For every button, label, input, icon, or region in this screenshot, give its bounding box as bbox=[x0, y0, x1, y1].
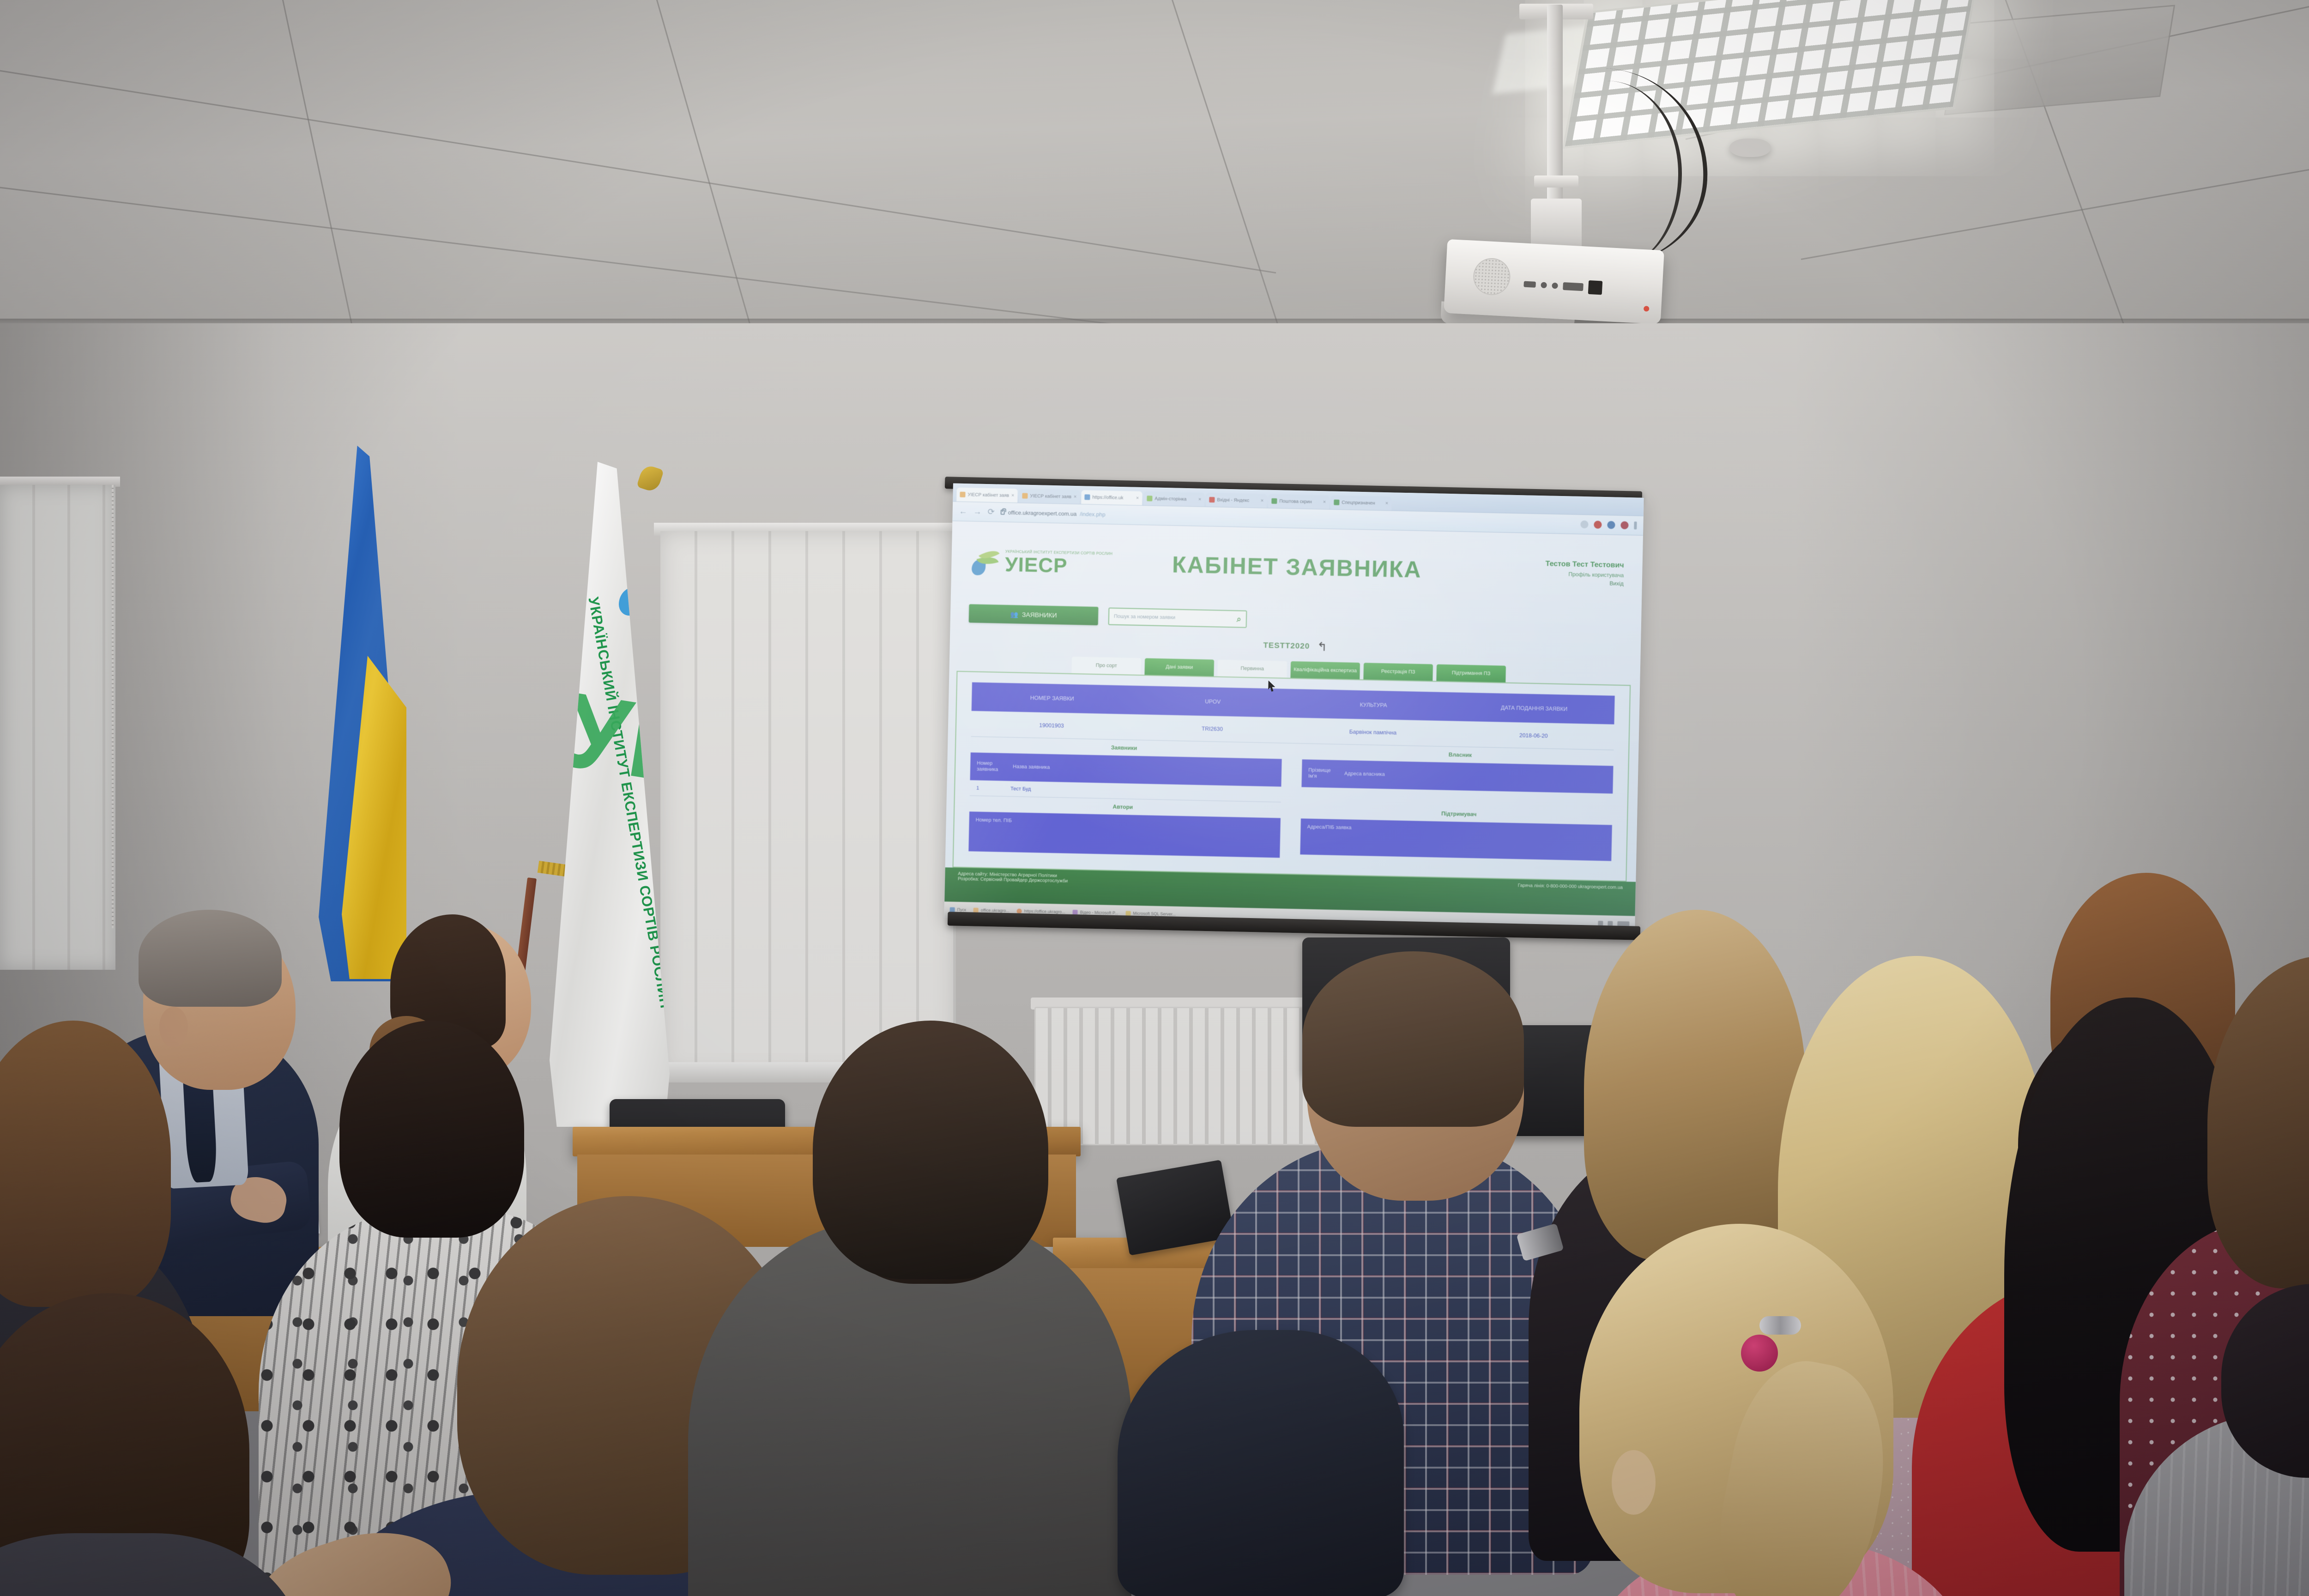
girl-pink-ear bbox=[1612, 1450, 1656, 1515]
ceiling-projector bbox=[1444, 239, 1664, 324]
owner-col-address: Адреса власника bbox=[1344, 771, 1385, 778]
projector-power-led bbox=[1644, 306, 1650, 312]
menu-icon[interactable] bbox=[1634, 521, 1637, 529]
tab-favicon-icon bbox=[1022, 493, 1028, 499]
tab-favicon-icon bbox=[1084, 494, 1090, 500]
page-title: КАБІНЕТ ЗАЯВНИКА bbox=[951, 546, 1643, 587]
tab-pro-sort[interactable]: Про сорт bbox=[1071, 657, 1141, 675]
cell-date: 2018-06-20 bbox=[1453, 731, 1614, 740]
footer-hotline: Гаряча лінія: 0-800-000-000 ukragroexper… bbox=[1517, 883, 1623, 912]
supporter-column-headers: Адреса/ПІБ заявка bbox=[1300, 818, 1612, 861]
back-arrow-icon[interactable]: ↰ bbox=[1317, 641, 1327, 653]
projector-mount-arm bbox=[1531, 199, 1582, 249]
browser-tab[interactable]: Адмін-сторінка × bbox=[1143, 491, 1205, 507]
reload-icon[interactable]: ⟳ bbox=[988, 507, 995, 517]
browser-tab[interactable]: УІЕСР кабінет заяв × bbox=[1019, 489, 1080, 504]
star-icon[interactable] bbox=[1580, 520, 1588, 528]
extension-red-icon[interactable] bbox=[1594, 521, 1602, 529]
search-input[interactable]: Пошук за номером заявки bbox=[1114, 614, 1232, 622]
applicants-button[interactable]: 👥 ЗАЯВНИКИ bbox=[969, 604, 1099, 625]
col-header-upov: UPOV bbox=[1132, 697, 1293, 707]
authors-col-label: Номер тел. ПІБ bbox=[976, 817, 1012, 824]
blind-pull-chain[interactable] bbox=[112, 485, 114, 928]
tab-title: УІЕСР кабінет заяв bbox=[1030, 493, 1071, 499]
col-header-culture: КУЛЬТУРА bbox=[1293, 700, 1454, 710]
blonde-black-hair bbox=[1584, 910, 1806, 1261]
applicants-block: Номер заявника Назва заявника 1 Тест Буд bbox=[970, 752, 1282, 802]
projector-speaker bbox=[1472, 257, 1511, 296]
tab-close-icon[interactable]: × bbox=[1011, 493, 1015, 498]
tab-kvalifikaciyna[interactable]: Кваліфікаційна експертиза bbox=[1290, 661, 1360, 679]
tab-close-icon[interactable]: × bbox=[1385, 501, 1389, 506]
tab-title: Вхідні - Яндекс bbox=[1217, 497, 1258, 503]
url-path: /index.php bbox=[1080, 511, 1106, 518]
applicants-col-name: Назва заявника bbox=[1013, 764, 1050, 771]
owner-column-headers: Прізвище Ім'я Адреса власника bbox=[1301, 759, 1613, 793]
applicants-col-number: Номер заявника bbox=[977, 760, 1005, 773]
tab-title: Поштова скрин bbox=[1279, 499, 1321, 505]
tab-close-icon[interactable]: × bbox=[1074, 494, 1077, 500]
browser-toolbar-icons[interactable] bbox=[1580, 520, 1637, 530]
tab-favicon-icon bbox=[1271, 498, 1277, 504]
plaid-hair bbox=[1302, 951, 1524, 1127]
tab-dani-zayavky[interactable]: Дані заявки bbox=[1144, 658, 1214, 676]
projected-web-page: УІЕСР кабінет заяв × УІЕСР кабінет заяв … bbox=[944, 483, 1644, 931]
man-suit-ear bbox=[159, 1007, 188, 1047]
tab-favicon-icon bbox=[960, 492, 965, 497]
smoke-detector bbox=[1729, 139, 1771, 157]
lock-icon bbox=[1001, 510, 1005, 515]
col-header-date: ДАТА ПОДАННЯ ЗАЯВКИ bbox=[1454, 703, 1614, 713]
girl-pink-hairtie-beads bbox=[1759, 1316, 1801, 1335]
owner-col-name: Прізвище Ім'я bbox=[1308, 767, 1336, 780]
back-icon[interactable]: ← bbox=[959, 507, 967, 516]
tab-title: Адмін-сторінка bbox=[1154, 496, 1196, 502]
cell-upov: TRI2630 bbox=[1132, 724, 1293, 733]
applicants-icon: 👥 bbox=[1010, 611, 1018, 618]
forward-icon[interactable]: → bbox=[973, 507, 982, 516]
applicant-name: Тест Буд bbox=[1010, 786, 1031, 792]
browser-tab[interactable]: Вхідні - Яндекс × bbox=[1206, 493, 1267, 508]
girl-pink-hairtie bbox=[1741, 1335, 1778, 1372]
browser-tab[interactable]: https://office.uk × bbox=[1081, 490, 1142, 505]
tab-favicon-icon bbox=[1209, 497, 1215, 502]
browser-tab[interactable]: УІЕСР кабінет заяв × bbox=[956, 488, 1018, 503]
cell-application-number: 19001903 bbox=[971, 720, 1132, 730]
extension-blue-icon[interactable] bbox=[1607, 521, 1615, 529]
site-header: УКРАЇНСЬКИЙ ІНСТИТУТ ЕКСПЕРТИЗИ СОРТІВ Р… bbox=[951, 521, 1643, 613]
search-icon[interactable]: ⌕ bbox=[1237, 614, 1242, 624]
grey-sweater-hair bbox=[813, 1021, 1048, 1279]
applicant-number: 1 bbox=[976, 785, 997, 791]
vertical-blinds-window[interactable] bbox=[660, 531, 956, 1076]
owner-block: Прізвище Ім'я Адреса власника bbox=[1301, 759, 1614, 809]
browser-tab[interactable]: Спецпризначен × bbox=[1330, 496, 1392, 511]
projection-screen: УІЕСР кабінет заяв × УІЕСР кабінет заяв … bbox=[944, 483, 1644, 931]
search-box[interactable]: Пошук за номером заявки ⌕ bbox=[1108, 608, 1247, 628]
tab-pidtrymannya-pz[interactable]: Підтримання ПЗ bbox=[1436, 664, 1506, 682]
supporter-block: Адреса/ПІБ заявка bbox=[1300, 818, 1612, 864]
conference-room-photo: УКРАЇНСЬКИЙ ІНСТИТУТ ЕКСПЕРТИЗИ СОРТІВ Р… bbox=[0, 0, 2309, 1596]
authors-block: Номер тел. ПІБ bbox=[968, 811, 1281, 858]
col-header-application-number: НОМЕР ЗАЯВКИ bbox=[972, 693, 1132, 703]
man-suit-hair bbox=[139, 910, 282, 1007]
jacket-on-chair bbox=[1118, 1330, 1404, 1596]
tab-favicon-icon bbox=[1334, 500, 1339, 505]
authors-column-headers: Номер тел. ПІБ bbox=[968, 811, 1281, 858]
mouse-cursor-icon bbox=[1267, 680, 1277, 694]
tab-pervynna[interactable]: Первинна bbox=[1217, 660, 1287, 678]
tab-close-icon[interactable]: × bbox=[1261, 498, 1264, 503]
cell-culture: Барвінок пампічна bbox=[1293, 727, 1453, 737]
tab-close-icon[interactable]: × bbox=[1136, 496, 1139, 501]
projector-port-panel bbox=[1523, 271, 1640, 303]
tab-favicon-icon bbox=[1147, 496, 1152, 501]
vertical-blinds-left[interactable] bbox=[0, 485, 115, 970]
profile-icon[interactable] bbox=[1620, 521, 1628, 529]
url-host: office.ukragroexpert.com.ua bbox=[1008, 509, 1077, 517]
tab-title: https://office.uk bbox=[1092, 495, 1134, 501]
patterned-hair bbox=[339, 1021, 524, 1238]
tab-close-icon[interactable]: × bbox=[1323, 499, 1326, 505]
tab-close-icon[interactable]: × bbox=[1198, 497, 1202, 502]
browser-tab[interactable]: Поштова скрин × bbox=[1268, 494, 1330, 509]
supporter-col-label: Адреса/ПІБ заявка bbox=[1307, 824, 1351, 831]
variety-name: TESTT2020 bbox=[1263, 641, 1310, 651]
applicants-label: ЗАЯВНИКИ bbox=[1022, 611, 1057, 619]
content-panel: НОМЕР ЗАЯВКИ UPOV КУЛЬТУРА ДАТА ПОДАННЯ … bbox=[953, 671, 1631, 882]
start-label: Пуск bbox=[957, 907, 967, 912]
tab-title: Спецпризначен bbox=[1342, 500, 1383, 506]
tab-reyestraciya-pz[interactable]: Реєстрація ПЗ bbox=[1363, 663, 1433, 681]
tab-title: УІЕСР кабінет заяв bbox=[967, 492, 1009, 498]
